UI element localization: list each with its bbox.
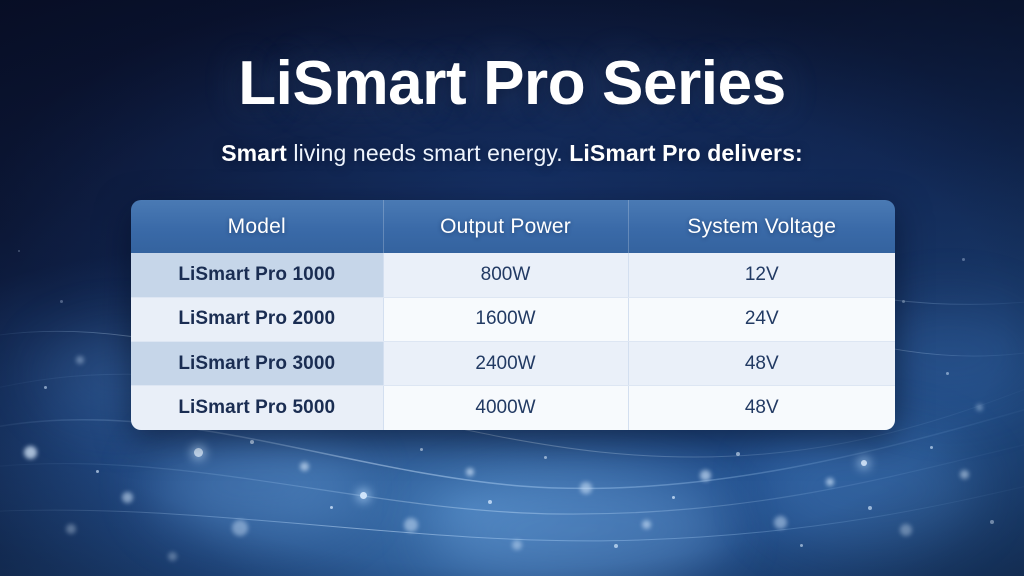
table-row: LiSmart Pro 3000 2400W 48V [131,342,895,386]
column-header-system-voltage: System Voltage [628,200,895,253]
cell-system-voltage: 24V [628,297,895,341]
table-row: LiSmart Pro 1000 800W 12V [131,253,895,297]
table-row: LiSmart Pro 5000 4000W 48V [131,386,895,430]
spec-table: Model Output Power System Voltage LiSmar… [131,200,895,430]
column-header-output-power: Output Power [383,200,628,253]
cell-output-power: 4000W [383,386,628,430]
page-subtitle: Smart living needs smart energy. LiSmart… [0,140,1024,167]
subtitle-lead: Smart [221,140,287,166]
cell-system-voltage: 48V [628,342,895,386]
page-title: LiSmart Pro Series [0,48,1024,119]
promo-slide: LiSmart Pro Series Smart living needs sm… [0,0,1024,576]
spec-table-container: Model Output Power System Voltage LiSmar… [131,200,895,430]
cell-system-voltage: 48V [628,386,895,430]
subtitle-middle: living needs smart energy. [287,140,569,166]
cell-output-power: 800W [383,253,628,297]
cell-output-power: 2400W [383,342,628,386]
subtitle-emphasis: LiSmart Pro delivers: [569,140,802,166]
cell-model: LiSmart Pro 3000 [131,342,383,386]
cell-model: LiSmart Pro 5000 [131,386,383,430]
cell-system-voltage: 12V [628,253,895,297]
cell-model: LiSmart Pro 2000 [131,297,383,341]
table-row: LiSmart Pro 2000 1600W 24V [131,297,895,341]
cell-model: LiSmart Pro 1000 [131,253,383,297]
cell-output-power: 1600W [383,297,628,341]
column-header-model: Model [131,200,383,253]
table-header-row: Model Output Power System Voltage [131,200,895,253]
